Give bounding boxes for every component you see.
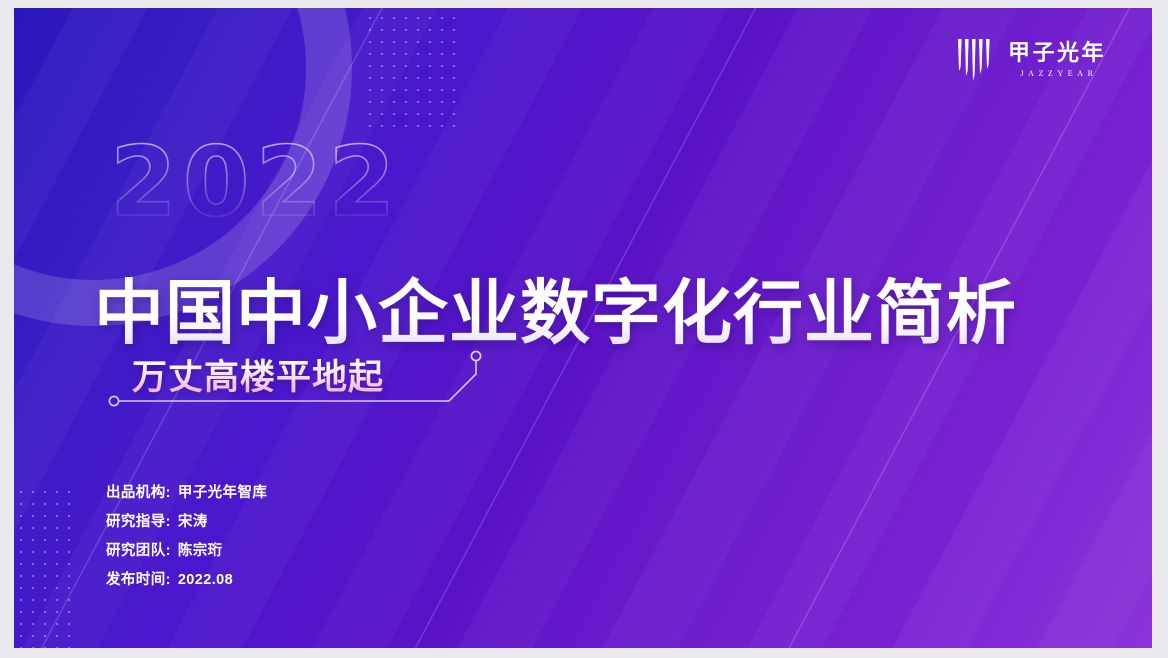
metadata-row-date: 发布时间: 2022.08 — [106, 568, 267, 597]
metadata-row-advisor: 研究指导: 宋涛 — [106, 510, 267, 539]
metadata-row-publisher: 出品机构: 甲子光年智库 — [106, 481, 267, 510]
logo-name-cn: 甲子光年 — [1008, 42, 1106, 65]
logo-text: 甲子光年 JAZZYEAR — [1008, 42, 1106, 78]
dot-grid-decoration-bottom — [15, 486, 77, 648]
metadata-label: 研究指导: — [106, 510, 171, 531]
logo-name-en: JAZZYEAR — [1020, 69, 1097, 78]
metadata-label: 研究团队: — [106, 539, 171, 560]
title-slide: 2022 中国中小企业数字化行业简析 万丈高楼平地起 出品机构: 甲子光年智库 … — [14, 8, 1152, 648]
slide-frame: 2022 中国中小企业数字化行业简析 万丈高楼平地起 出品机构: 甲子光年智库 … — [0, 0, 1168, 658]
metadata-value: 陈宗珩 — [178, 539, 223, 560]
metadata-block: 出品机构: 甲子光年智库 研究指导: 宋涛 研究团队: 陈宗珩 发布时间: 20… — [106, 481, 267, 597]
metadata-label: 发布时间: — [106, 568, 171, 589]
metadata-label: 出品机构: — [106, 481, 171, 502]
page-title: 中国中小企业数字化行业简析 — [94, 273, 1017, 354]
jazzyear-bars-icon — [955, 37, 997, 83]
page-subtitle: 万丈高楼平地起 — [132, 349, 384, 400]
metadata-value: 宋涛 — [178, 510, 208, 531]
metadata-value: 甲子光年智库 — [178, 481, 267, 502]
metadata-value: 2022.08 — [178, 572, 233, 588]
brand-logo: 甲子光年 JAZZYEAR — [955, 37, 1106, 83]
dot-grid-decoration-top — [364, 8, 456, 134]
metadata-row-team: 研究团队: 陈宗珩 — [106, 539, 267, 568]
year-watermark: 2022 — [110, 134, 401, 230]
